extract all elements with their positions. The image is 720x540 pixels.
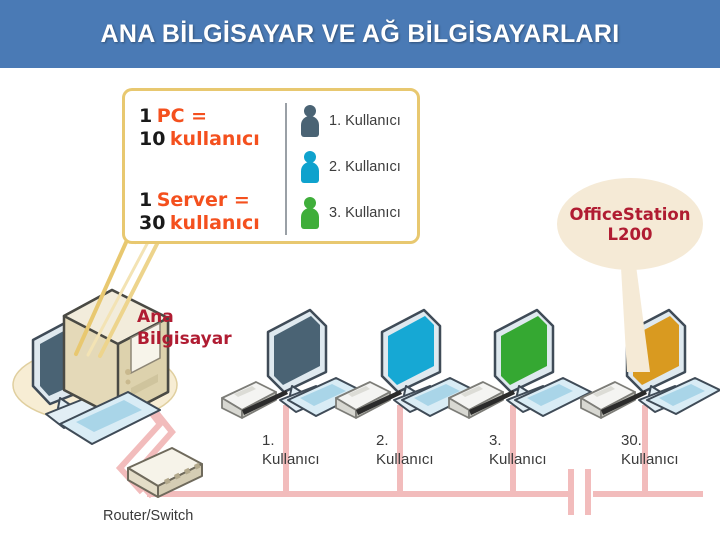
legend-ratio-server-word2: kullanıcı <box>170 212 260 234</box>
legend-divider <box>285 103 287 235</box>
legend-ratio-pc-line2: 10 kullanıcı <box>139 128 279 151</box>
workstation-30-label-line2: Kullanıcı <box>621 451 711 470</box>
officestation-line1: OfficeStation <box>570 205 691 224</box>
legend-ratio-server-line2: 30 kullanıcı <box>139 212 279 235</box>
legend-ratio-server-num1: 1 <box>139 189 152 211</box>
workstation-3-label-line2: Kullanıcı <box>489 451 579 470</box>
legend-user-row-2: 2. Kullanıcı <box>300 145 418 189</box>
user-person-icon <box>300 151 320 183</box>
legend-ratio-pc-num2: 10 <box>139 128 165 150</box>
legend-user-row-1: 1. Kullanıcı <box>300 99 418 143</box>
legend-ratio-pc-line1: 1 PC = <box>139 105 279 128</box>
main-computer-label: Ana Bilgisayar <box>137 306 277 350</box>
legend-user-list: 1. Kullanıcı 2. Kullanıcı 3. Kullanıcı <box>300 97 418 241</box>
slide-canvas: ANA BİLGİSAYAR VE AĞ BİLGİSAYARLARI 1 PC… <box>0 0 720 540</box>
legend-ratio-pc-word2: kullanıcı <box>170 128 260 150</box>
officestation-callout-bubble: OfficeStation L200 <box>557 178 703 270</box>
legend-ratio-server-line1: 1 Server = <box>139 189 279 212</box>
workstation-3-label: 3. Kullanıcı <box>489 432 579 470</box>
legend-ratio-pc-word1: PC = <box>157 105 207 127</box>
officestation-line2: L200 <box>608 225 653 244</box>
legend-user-row-3: 3. Kullanıcı <box>300 191 418 235</box>
legend-user-label-2: 2. Kullanıcı <box>329 159 401 175</box>
workstation-3-label-line1: 3. <box>489 432 579 451</box>
workstation-1-label-line1: 1. <box>262 432 352 451</box>
legend-ratios: 1 PC = 10 kullanıcı 1 Server = 30 kullan… <box>139 101 279 237</box>
workstation-2-label-line1: 2. <box>376 432 466 451</box>
legend-ratio-server: 1 Server = 30 kullanıcı <box>139 189 279 235</box>
legend-ratio-pc-num1: 1 <box>139 105 152 127</box>
bubble-tail-layer <box>0 0 720 540</box>
workstation-1-label: 1. Kullanıcı <box>262 432 352 470</box>
legend-user-label-1: 1. Kullanıcı <box>329 113 401 129</box>
legend-ratio-pc: 1 PC = 10 kullanıcı <box>139 105 279 151</box>
workstation-2-label: 2. Kullanıcı <box>376 432 466 470</box>
legend-callout-box: 1 PC = 10 kullanıcı 1 Server = 30 kullan… <box>122 88 420 244</box>
legend-ratio-server-word1: Server = <box>157 189 250 211</box>
workstation-30-label-line1: 30. <box>621 432 711 451</box>
legend-user-label-3: 3. Kullanıcı <box>329 205 401 221</box>
legend-ratio-server-num2: 30 <box>139 212 165 234</box>
workstation-1-label-line2: Kullanıcı <box>262 451 352 470</box>
workstation-30-label: 30. Kullanıcı <box>621 432 711 470</box>
router-switch-label: Router/Switch <box>103 508 243 524</box>
main-computer-label-line1: Ana <box>137 306 277 328</box>
main-computer-label-line2: Bilgisayar <box>137 328 277 350</box>
user-person-icon <box>300 105 320 137</box>
workstation-2-label-line2: Kullanıcı <box>376 451 466 470</box>
user-person-icon <box>300 197 320 229</box>
